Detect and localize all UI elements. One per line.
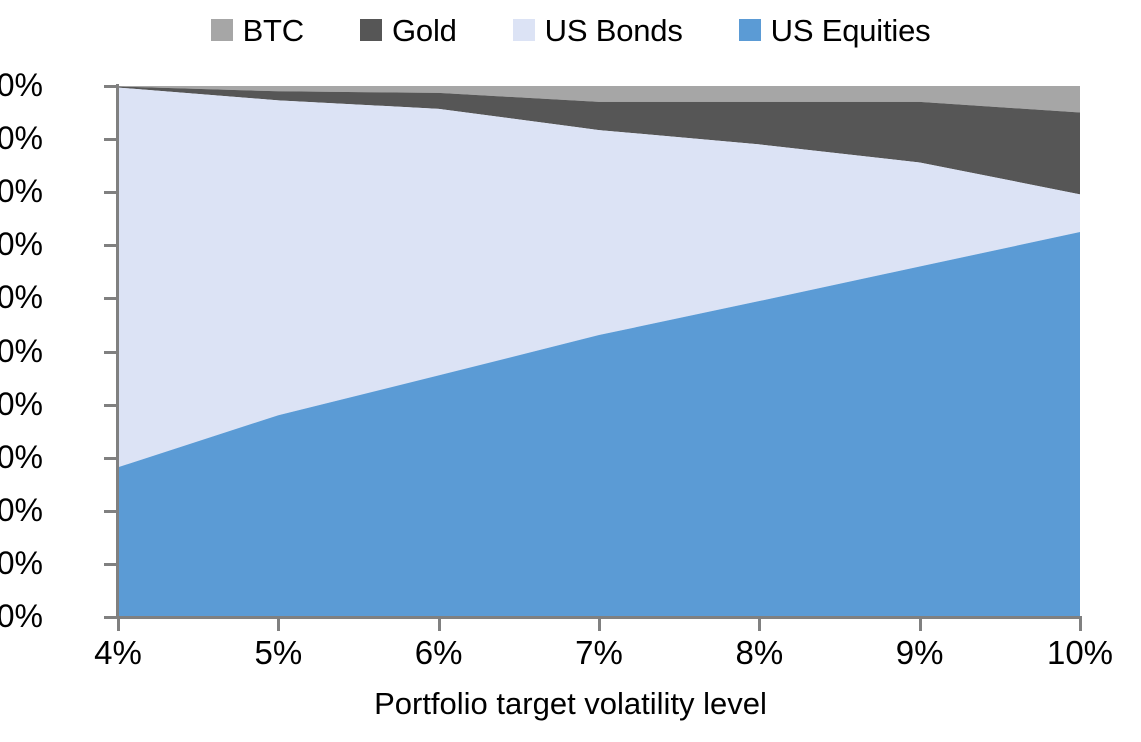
x-tick-label-6: 6% bbox=[415, 636, 463, 669]
legend-item-btc[interactable]: BTC bbox=[211, 15, 304, 46]
x-tick-label-5: 5% bbox=[254, 636, 302, 669]
x-tick-6 bbox=[438, 617, 441, 631]
x-tick-label-7: 7% bbox=[575, 636, 623, 669]
x-tick-10 bbox=[1079, 617, 1082, 631]
x-tick-label-10: 10% bbox=[1047, 636, 1113, 669]
y-tick-label-10: 10% bbox=[0, 547, 43, 579]
legend-label-gold: Gold bbox=[392, 15, 457, 46]
plot-area bbox=[118, 86, 1080, 617]
x-tick-4 bbox=[117, 617, 120, 631]
y-tick-label-30: 30% bbox=[0, 441, 43, 473]
legend-swatch-btc bbox=[211, 19, 233, 41]
legend-label-us-bonds: US Bonds bbox=[545, 15, 683, 46]
legend-item-us-bonds[interactable]: US Bonds bbox=[513, 15, 683, 46]
y-axis-line bbox=[116, 84, 119, 619]
legend-label-us-equities: US Equities bbox=[771, 15, 931, 46]
y-tick-label-60: 60% bbox=[0, 281, 43, 313]
y-tick-label-70: 70% bbox=[0, 228, 43, 260]
x-axis-title: Portfolio target volatility level bbox=[0, 688, 1141, 719]
x-tick-9 bbox=[919, 617, 922, 631]
stacked-area-chart: BTC Gold US Bonds US Equities 0%10%20%30… bbox=[0, 0, 1141, 742]
y-tick-label-100: 100% bbox=[0, 69, 43, 101]
legend-item-gold[interactable]: Gold bbox=[360, 15, 457, 46]
x-tick-label-4: 4% bbox=[94, 636, 142, 669]
chart-legend: BTC Gold US Bonds US Equities bbox=[0, 8, 1141, 52]
legend-swatch-gold bbox=[360, 19, 382, 41]
y-tick-label-20: 20% bbox=[0, 494, 43, 526]
legend-item-us-equities[interactable]: US Equities bbox=[739, 15, 931, 46]
x-tick-5 bbox=[277, 617, 280, 631]
y-tick-label-50: 50% bbox=[0, 335, 43, 367]
legend-label-btc: BTC bbox=[243, 15, 304, 46]
y-tick-label-0: 0% bbox=[0, 600, 43, 632]
x-tick-label-9: 9% bbox=[896, 636, 944, 669]
area-series-svg bbox=[118, 86, 1080, 617]
legend-swatch-us-equities bbox=[739, 19, 761, 41]
legend-swatch-us-bonds bbox=[513, 19, 535, 41]
y-tick-label-40: 40% bbox=[0, 388, 43, 420]
y-tick-label-90: 90% bbox=[0, 122, 43, 154]
x-tick-7 bbox=[598, 617, 601, 631]
x-tick-label-8: 8% bbox=[735, 636, 783, 669]
x-tick-8 bbox=[758, 617, 761, 631]
y-tick-label-80: 80% bbox=[0, 175, 43, 207]
